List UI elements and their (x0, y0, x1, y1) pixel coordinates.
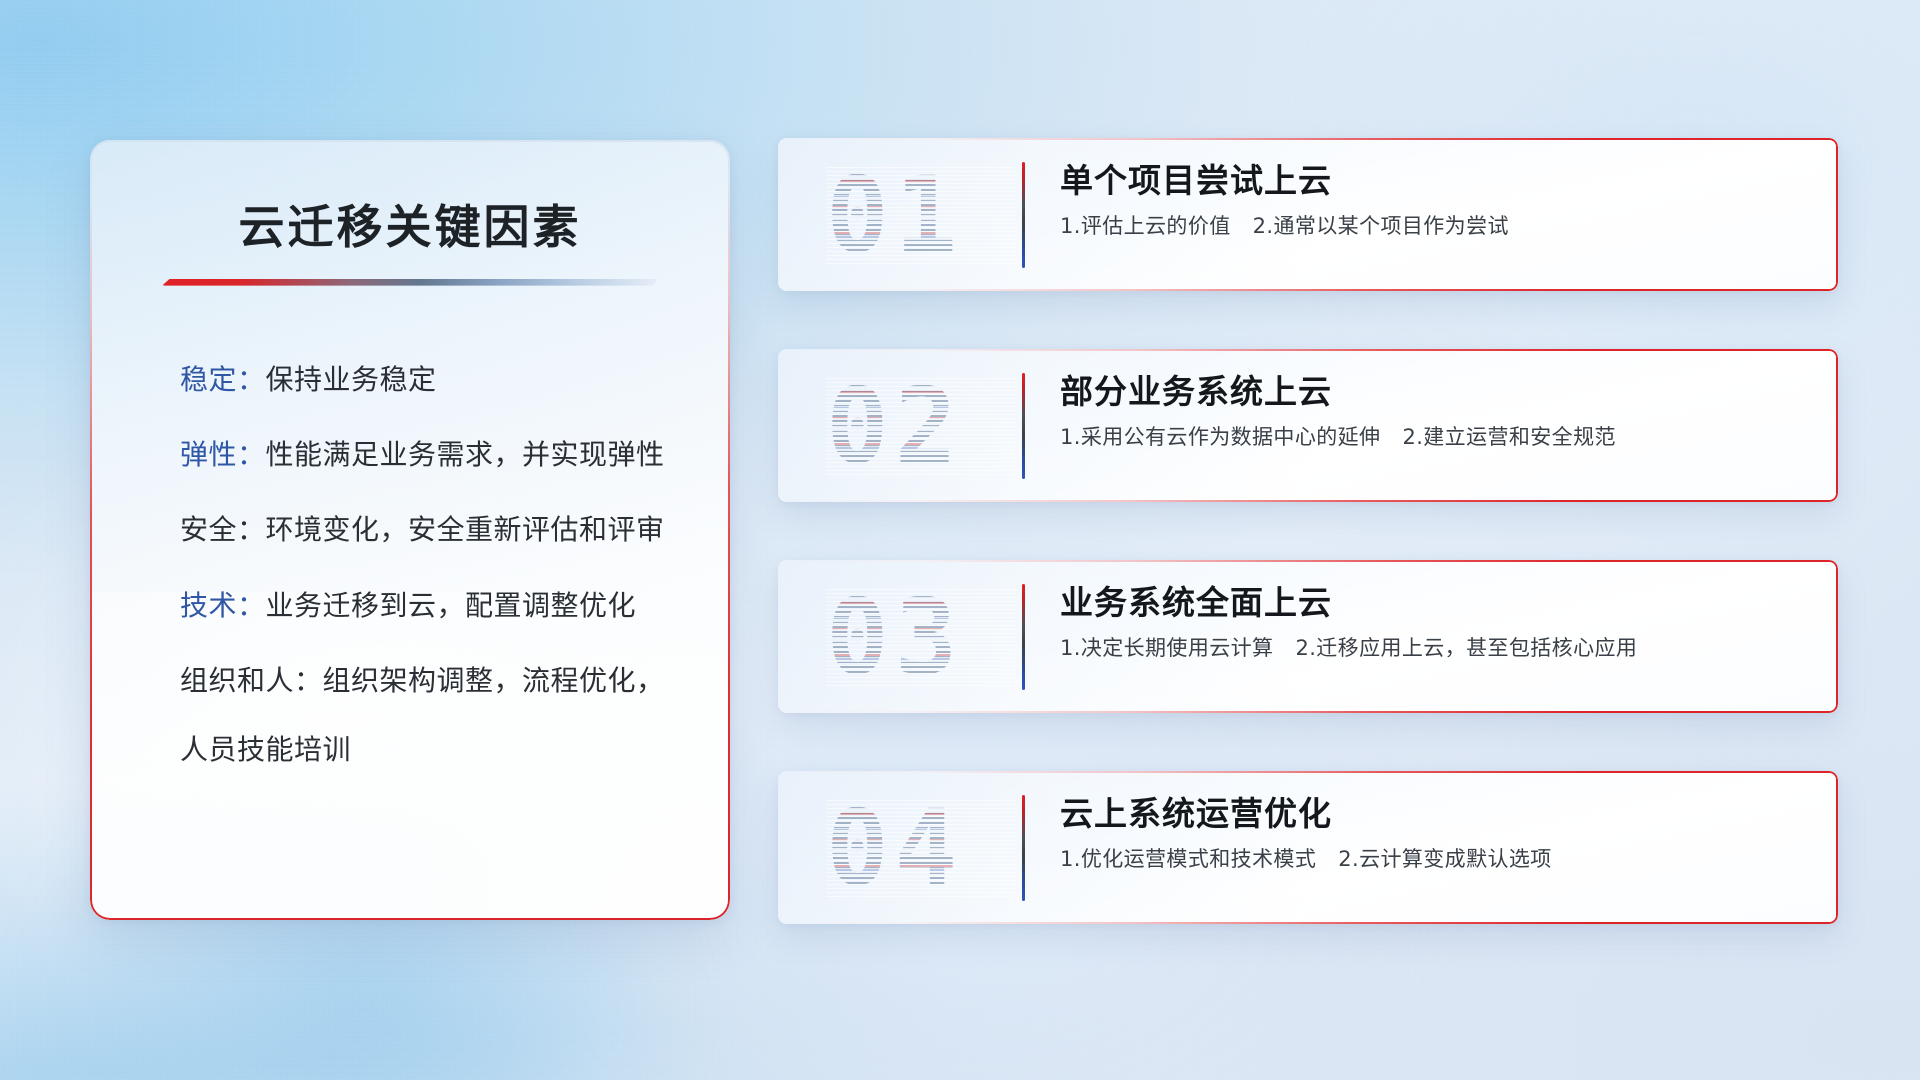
factor-label: 弹性： (180, 438, 266, 471)
step-desc-item-2: 2.建立运营和安全规范 (1402, 425, 1615, 449)
factor-label: 稳定： (180, 363, 266, 396)
step-number-glyph-blue: 02 (826, 375, 963, 477)
step-number-glyph-red: 03 (826, 586, 963, 688)
factor-label: 组织和人： (180, 664, 323, 697)
factor-label: 安全： (180, 513, 266, 546)
step-desc-item-1: 1.决定长期使用云计算 (1060, 636, 1273, 660)
key-factors-panel: 云迁移关键因素 稳定：保持业务稳定 弹性：性能满足业务需求，并实现弹性 安全：环… (90, 140, 730, 920)
factor-label: 技术： (180, 589, 266, 622)
step-description: 1.决定长期使用云计算2.迁移应用上云，甚至包括核心应用 (1060, 635, 1798, 662)
page-title: 云迁移关键因素 (146, 202, 674, 253)
step-number-01: 01 01 01 (826, 164, 1016, 266)
list-item: 安全：环境变化，安全重新评估和评审 (180, 514, 674, 545)
step-number-scanlines (826, 164, 1016, 266)
step-divider-rule (1022, 162, 1025, 268)
step-number-glyph: 03 (826, 586, 963, 688)
step-description: 1.采用公有云作为数据中心的延伸2.建立运营和安全规范 (1060, 424, 1798, 451)
step-number-glyph-red: 01 (826, 164, 963, 266)
factor-list: 稳定：保持业务稳定 弹性：性能满足业务需求，并实现弹性 安全：环境变化，安全重新… (146, 364, 674, 766)
factor-value: 业务迁移到云，配置调整优化 (266, 589, 637, 622)
factor-value: 组织架构调整，流程优化， (323, 664, 665, 697)
list-item: 技术：业务迁移到云，配置调整优化 (180, 590, 674, 621)
factor-value: 环境变化，安全重新评估和评审 (266, 513, 665, 546)
factor-value: 性能满足业务需求，并实现弹性 (266, 438, 665, 471)
list-item-continuation: 人员技能培训 (180, 734, 674, 765)
step-title: 单个项目尝试上云 (1060, 160, 1798, 201)
list-item: 组织和人：组织架构调整，流程优化， (180, 665, 674, 696)
title-underline-rule (162, 279, 658, 286)
step-number-glyph: 04 (826, 797, 963, 899)
step-number-glyph-blue: 03 (826, 586, 963, 688)
step-desc-item-1: 1.评估上云的价值 (1060, 214, 1231, 238)
step-number-glyph-red: 02 (826, 375, 963, 477)
step-card-03[interactable]: 03 03 03 业务系统全面上云 1.决定长期使用云计算2.迁移应用上云，甚至… (778, 560, 1838, 713)
step-title: 部分业务系统上云 (1060, 371, 1798, 412)
step-desc-item-2: 2.迁移应用上云，甚至包括核心应用 (1295, 636, 1637, 660)
step-number-glyph-blue: 01 (826, 164, 963, 266)
step-description: 1.评估上云的价值2.通常以某个项目作为尝试 (1060, 213, 1798, 240)
list-item: 稳定：保持业务稳定 (180, 364, 674, 395)
list-item: 弹性：性能满足业务需求，并实现弹性 (180, 439, 674, 470)
step-desc-item-2: 2.通常以某个项目作为尝试 (1253, 214, 1509, 238)
step-number-glyph-red: 04 (826, 797, 963, 899)
step-divider-rule (1022, 795, 1025, 901)
step-desc-item-2: 2.云计算变成默认选项 (1338, 847, 1551, 871)
step-divider-rule (1022, 584, 1025, 690)
step-number-glyph: 02 (826, 375, 963, 477)
step-number-02: 02 02 02 (826, 375, 1016, 477)
step-number-scanlines (826, 586, 1016, 688)
step-card-02[interactable]: 02 02 02 部分业务系统上云 1.采用公有云作为数据中心的延伸2.建立运营… (778, 349, 1838, 502)
step-number-scanlines (826, 375, 1016, 477)
factor-value: 保持业务稳定 (266, 363, 437, 396)
step-card-04[interactable]: 04 04 04 云上系统运营优化 1.优化运营模式和技术模式2.云计算变成默认… (778, 771, 1838, 924)
step-number-glyph-blue: 04 (826, 797, 963, 899)
step-number-04: 04 04 04 (826, 797, 1016, 899)
step-divider-rule (1022, 373, 1025, 479)
step-number-03: 03 03 03 (826, 586, 1016, 688)
step-desc-item-1: 1.优化运营模式和技术模式 (1060, 847, 1316, 871)
step-number-scanlines (826, 797, 1016, 899)
step-title: 业务系统全面上云 (1060, 582, 1798, 623)
factor-value-continuation: 人员技能培训 (180, 733, 351, 766)
step-title: 云上系统运营优化 (1060, 793, 1798, 834)
step-description: 1.优化运营模式和技术模式2.云计算变成默认选项 (1060, 846, 1798, 873)
step-number-glyph: 01 (826, 164, 963, 266)
step-card-01[interactable]: 01 01 01 单个项目尝试上云 1.评估上云的价值2.通常以某个项目作为尝试 (778, 138, 1838, 291)
migration-steps-list: 01 01 01 单个项目尝试上云 1.评估上云的价值2.通常以某个项目作为尝试… (778, 138, 1838, 924)
step-desc-item-1: 1.采用公有云作为数据中心的延伸 (1060, 425, 1380, 449)
